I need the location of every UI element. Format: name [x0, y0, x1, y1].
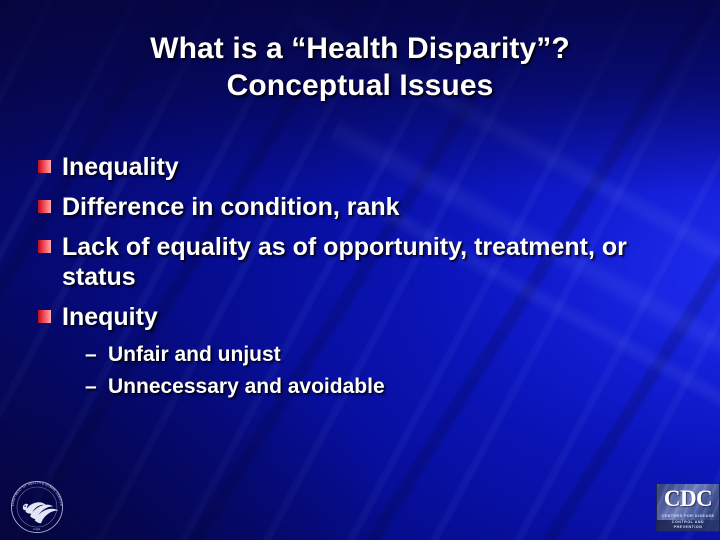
- square-bullet-icon: [38, 200, 51, 213]
- dash-bullet-icon: –: [85, 342, 102, 367]
- bullet-label: Difference in condition, rank: [62, 192, 400, 222]
- sub-bullet-label: Unnecessary and avoidable: [108, 374, 385, 399]
- slide-body: Inequality Difference in condition, rank…: [38, 152, 660, 406]
- sub-bullet-label: Unfair and unjust: [108, 342, 281, 367]
- bullet-item: Inequity: [38, 302, 660, 332]
- cdc-tagline-line-2: CONTROL AND PREVENTION: [657, 520, 719, 530]
- bullet-label: Inequity: [62, 302, 158, 332]
- square-bullet-icon: [38, 160, 51, 173]
- title-line-1: What is a “Health Disparity”?: [0, 31, 720, 68]
- hhs-seal-icon: DEPARTMENT OF HEALTH & HUMAN SERVICES US…: [8, 478, 66, 536]
- slide-canvas: What is a “Health Disparity”? Conceptual…: [0, 0, 720, 540]
- bullet-label: Lack of equality as of opportunity, trea…: [62, 232, 660, 292]
- svg-text:USA: USA: [33, 527, 41, 531]
- sub-bullet-item: – Unnecessary and avoidable: [85, 374, 660, 399]
- bullet-label: Inequality: [62, 152, 179, 182]
- sub-bullet-item: – Unfair and unjust: [85, 342, 660, 367]
- svg-text:DEPARTMENT OF HEALTH & HUMAN S: DEPARTMENT OF HEALTH & HUMAN SERVICES: [8, 478, 63, 506]
- bullet-item: Lack of equality as of opportunity, trea…: [38, 232, 660, 292]
- cdc-logo: CDC CENTERS FOR DISEASE CONTROL AND PREV…: [656, 483, 720, 532]
- square-bullet-icon: [38, 310, 51, 323]
- square-bullet-icon: [38, 240, 51, 253]
- cdc-tagline: CENTERS FOR DISEASE CONTROL AND PREVENTI…: [657, 514, 719, 530]
- bullet-item: Inequality: [38, 152, 660, 182]
- title-line-2: Conceptual Issues: [0, 68, 720, 105]
- cdc-wordmark: CDC: [657, 486, 719, 512]
- bullet-item: Difference in condition, rank: [38, 192, 660, 222]
- dash-bullet-icon: –: [85, 374, 102, 399]
- slide-title: What is a “Health Disparity”? Conceptual…: [0, 31, 720, 104]
- cdc-tagline-line-1: CENTERS FOR DISEASE: [657, 514, 719, 519]
